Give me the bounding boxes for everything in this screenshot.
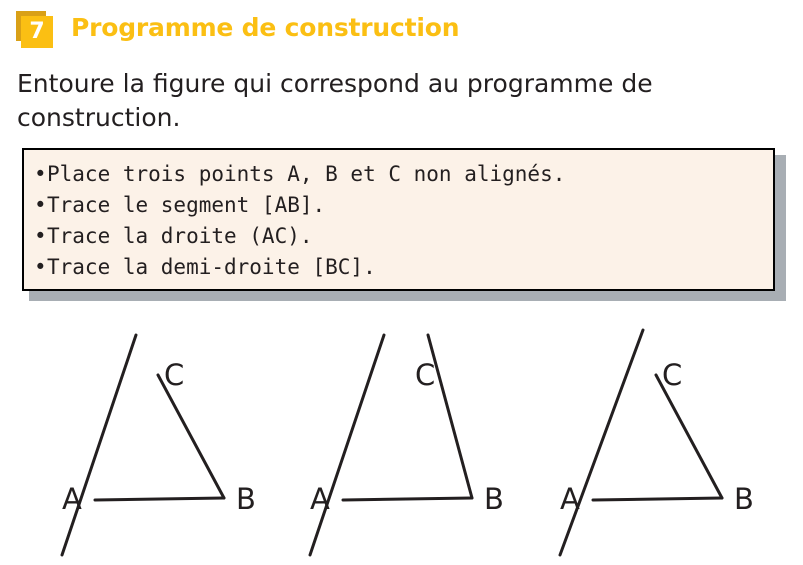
line-ac-figure-2 bbox=[310, 335, 384, 555]
label-c-figure-2: C bbox=[415, 358, 435, 392]
figure-option-3[interactable]: A B C bbox=[538, 305, 788, 565]
figure-option-1[interactable]: A B C bbox=[40, 305, 290, 565]
badge-square: 7 bbox=[21, 16, 53, 48]
bullet-icon: • bbox=[34, 252, 47, 283]
bullet-icon: • bbox=[34, 190, 47, 221]
line-ac-figure-1 bbox=[62, 335, 136, 555]
program-box: •Place trois points A, B et C non aligné… bbox=[22, 148, 775, 291]
bullet-icon: • bbox=[34, 159, 47, 190]
instruction-text: Entoure la figure qui correspond au prog… bbox=[17, 67, 777, 135]
program-step: •Trace la demi-droite [BC]. bbox=[34, 252, 769, 283]
figure-2-drawing: A B C bbox=[288, 305, 538, 565]
program-step: •Trace la droite (AC). bbox=[34, 221, 769, 252]
figure-3-drawing: A B C bbox=[538, 305, 788, 565]
label-b-figure-2: B bbox=[484, 482, 504, 516]
page-title: Programme de construction bbox=[71, 13, 459, 42]
segment-ab-figure-3 bbox=[593, 498, 722, 500]
bullet-icon: • bbox=[34, 221, 47, 252]
program-step-list: •Place trois points A, B et C non aligné… bbox=[34, 159, 769, 283]
label-b-figure-1: B bbox=[236, 482, 256, 516]
exercise-number: 7 bbox=[21, 16, 53, 48]
label-a-figure-2: A bbox=[310, 482, 330, 516]
label-a-figure-3: A bbox=[560, 482, 580, 516]
figure-option-2[interactable]: A B C bbox=[288, 305, 538, 565]
program-step: •Place trois points A, B et C non aligné… bbox=[34, 159, 769, 190]
label-b-figure-3: B bbox=[734, 482, 754, 516]
label-a-figure-1: A bbox=[62, 482, 82, 516]
segment-cb-figure-1 bbox=[158, 375, 224, 498]
segment-cb-figure-3 bbox=[656, 375, 722, 498]
program-step-text: Trace la droite (AC). bbox=[47, 224, 313, 248]
program-step: •Trace le segment [AB]. bbox=[34, 190, 769, 221]
program-step-text: Place trois points A, B et C non alignés… bbox=[47, 162, 565, 186]
label-c-figure-1: C bbox=[164, 358, 184, 392]
label-c-figure-3: C bbox=[662, 358, 682, 392]
program-step-text: Trace la demi-droite [BC]. bbox=[47, 255, 376, 279]
figure-1-drawing: A B C bbox=[40, 305, 290, 565]
segment-ab-figure-1 bbox=[95, 498, 224, 500]
segment-ab-figure-2 bbox=[343, 498, 472, 500]
answer-figures: A B C A B C A B C bbox=[0, 305, 803, 565]
exercise-number-badge: 7 bbox=[16, 11, 56, 51]
program-step-text: Trace le segment [AB]. bbox=[47, 193, 325, 217]
exercise-header: 7 Programme de construction bbox=[0, 0, 803, 58]
line-ac-figure-3 bbox=[560, 330, 643, 555]
